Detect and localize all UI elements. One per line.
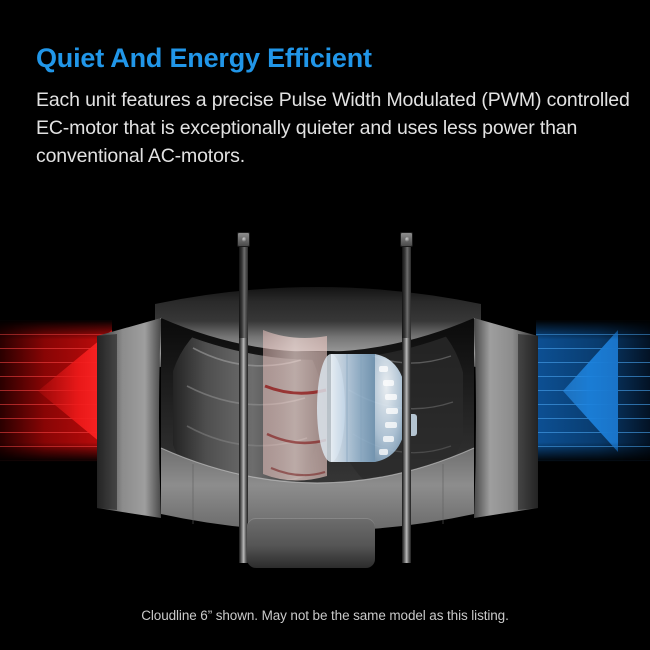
mounting-strap-right	[402, 338, 411, 563]
page-title: Quiet And Energy Efficient	[36, 42, 636, 74]
product-illustration	[0, 200, 650, 600]
product-feature-panel: Quiet And Energy Efficient Each unit fea…	[0, 0, 650, 650]
bracket-screw-left-icon	[237, 232, 250, 247]
exhaust-arrow-head-icon	[536, 320, 650, 462]
image-caption: Cloudline 6” shown. May not be the same …	[0, 608, 650, 623]
feature-description: Each unit features a precise Pulse Width…	[36, 87, 636, 170]
bracket-screw-right-icon	[400, 232, 413, 247]
junction-box	[247, 518, 375, 568]
feature-text-block: Quiet And Energy Efficient Each unit fea…	[36, 42, 636, 170]
exhaust-airflow-arrow	[536, 320, 650, 462]
inline-fan-body	[95, 218, 540, 548]
fan-cutaway-graphic	[95, 218, 540, 548]
